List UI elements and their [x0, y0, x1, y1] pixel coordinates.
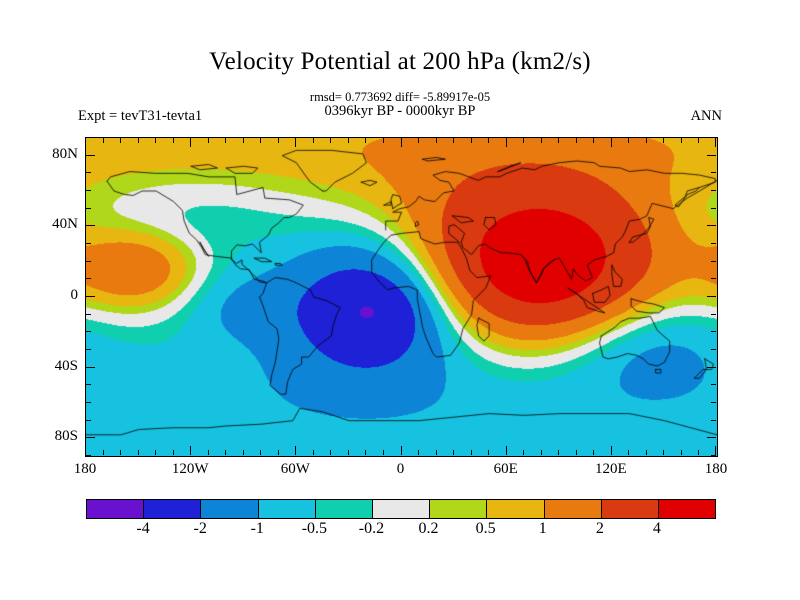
axis-tick — [611, 446, 612, 455]
colorbar-cell — [259, 500, 316, 518]
axis-tick — [225, 138, 226, 143]
axis-tick — [348, 450, 349, 455]
colorbar — [86, 499, 716, 519]
colorbar-tick-label: -1 — [227, 521, 287, 537]
axis-tick — [711, 172, 716, 173]
lon-tick-label: 60W — [255, 462, 335, 477]
colorbar-tick-label: 0.2 — [399, 521, 459, 537]
axis-tick — [260, 138, 261, 143]
axis-tick — [628, 450, 629, 455]
axis-tick — [711, 208, 716, 209]
axis-tick — [663, 138, 664, 143]
page-title: Velocity Potential at 200 hPa (km2/s) — [0, 48, 800, 76]
axis-tick — [698, 450, 699, 455]
lat-tick-label: 40S — [0, 359, 78, 374]
lon-tick-label: 120W — [150, 462, 230, 477]
axis-tick — [225, 450, 226, 455]
axis-tick — [365, 450, 366, 455]
axis-tick — [278, 450, 279, 455]
axis-tick — [711, 314, 716, 315]
colorbar-tick-label: -0.5 — [284, 521, 344, 537]
axis-tick — [436, 138, 437, 143]
axis-tick — [86, 296, 95, 297]
axis-tick — [138, 138, 139, 143]
axis-tick — [707, 225, 716, 226]
axis-tick — [138, 450, 139, 455]
axis-tick — [707, 155, 716, 156]
axis-tick — [190, 138, 191, 147]
axis-tick — [278, 138, 279, 143]
map-plot-area — [85, 137, 718, 457]
colorbar-cell — [545, 500, 602, 518]
axis-tick — [120, 450, 121, 455]
axis-tick — [711, 349, 716, 350]
axis-tick — [120, 138, 121, 143]
axis-tick — [711, 455, 716, 456]
axis-tick — [243, 138, 244, 143]
axis-tick — [155, 138, 156, 143]
axis-tick — [663, 450, 664, 455]
axis-tick — [86, 455, 91, 456]
axis-tick — [453, 138, 454, 143]
axis-tick — [86, 190, 91, 191]
axis-tick — [330, 138, 331, 143]
lon-tick-label: 120E — [571, 462, 651, 477]
axis-tick — [295, 446, 296, 455]
axis-tick — [698, 138, 699, 143]
axis-tick — [707, 437, 716, 438]
axis-tick — [401, 446, 402, 455]
axis-tick — [86, 172, 91, 173]
axis-tick — [523, 138, 524, 143]
axis-tick — [313, 450, 314, 455]
colorbar-tick-label: 1 — [513, 521, 573, 537]
axis-tick — [715, 138, 716, 147]
axis-tick — [86, 349, 91, 350]
lon-tick-label: 0 — [361, 462, 441, 477]
axis-tick — [576, 138, 577, 143]
season-label: ANN — [691, 108, 722, 125]
axis-tick — [348, 138, 349, 143]
axis-tick — [86, 225, 95, 226]
colorbar-tick-label: 0.5 — [456, 521, 516, 537]
axis-tick — [506, 446, 507, 455]
axis-tick — [471, 450, 472, 455]
axis-tick — [86, 402, 91, 403]
axis-tick — [313, 138, 314, 143]
axis-tick — [628, 138, 629, 143]
axis-tick — [453, 450, 454, 455]
axis-tick — [208, 450, 209, 455]
colorbar-cell — [201, 500, 258, 518]
axis-tick — [260, 450, 261, 455]
axis-tick — [711, 402, 716, 403]
axis-tick — [541, 138, 542, 143]
lat-tick-label: 0 — [0, 288, 78, 303]
axis-tick — [711, 243, 716, 244]
axis-tick — [523, 450, 524, 455]
axis-tick — [86, 137, 91, 138]
axis-tick — [365, 138, 366, 143]
axis-tick — [208, 138, 209, 143]
colorbar-tick-label: -4 — [113, 521, 173, 537]
axis-tick — [173, 450, 174, 455]
axis-tick — [86, 331, 91, 332]
velocity-potential-map — [86, 138, 717, 456]
axis-tick — [103, 450, 104, 455]
axis-tick — [155, 450, 156, 455]
colorbar-cell — [602, 500, 659, 518]
axis-tick — [715, 446, 716, 455]
axis-tick — [383, 138, 384, 143]
axis-tick — [86, 420, 91, 421]
lon-tick-label: 180 — [676, 462, 756, 477]
axis-tick — [646, 450, 647, 455]
axis-tick — [86, 261, 91, 262]
axis-tick — [418, 138, 419, 143]
axis-tick — [86, 367, 95, 368]
axis-tick — [173, 138, 174, 143]
axis-tick — [593, 450, 594, 455]
axis-tick — [103, 138, 104, 143]
colorbar-cell — [373, 500, 430, 518]
axis-tick — [711, 420, 716, 421]
axis-tick — [86, 243, 91, 244]
colorbar-tick-label: 2 — [570, 521, 630, 537]
axis-tick — [576, 450, 577, 455]
axis-tick — [488, 138, 489, 143]
axis-tick — [436, 450, 437, 455]
colorbar-cell — [87, 500, 144, 518]
colorbar-cell — [144, 500, 201, 518]
axis-tick — [711, 331, 716, 332]
axis-tick — [418, 450, 419, 455]
lat-tick-label: 80N — [0, 147, 78, 162]
lon-tick-label: 60E — [466, 462, 546, 477]
axis-tick — [330, 450, 331, 455]
colorbar-cell — [316, 500, 373, 518]
axis-tick — [471, 138, 472, 143]
axis-tick — [541, 450, 542, 455]
axis-tick — [711, 384, 716, 385]
axis-tick — [86, 314, 91, 315]
axis-tick — [85, 138, 86, 147]
axis-tick — [681, 450, 682, 455]
axis-tick — [707, 296, 716, 297]
experiment-label: Expt = tevT31-tevta1 — [78, 108, 202, 125]
axis-tick — [86, 437, 95, 438]
colorbar-cell — [487, 500, 544, 518]
axis-tick — [681, 138, 682, 143]
colorbar-tick-label: -0.2 — [341, 521, 401, 537]
axis-tick — [401, 138, 402, 147]
axis-tick — [86, 384, 91, 385]
axis-tick — [611, 138, 612, 147]
axis-tick — [707, 367, 716, 368]
colorbar-tick-label: 4 — [627, 521, 687, 537]
figure-root: Velocity Potential at 200 hPa (km2/s) rm… — [0, 0, 800, 600]
colorbar-cell — [659, 500, 715, 518]
colorbar-tick-label: -2 — [170, 521, 230, 537]
axis-tick — [488, 450, 489, 455]
axis-tick — [86, 278, 91, 279]
axis-tick — [86, 208, 91, 209]
axis-tick — [558, 138, 559, 143]
axis-tick — [190, 446, 191, 455]
axis-tick — [711, 278, 716, 279]
colorbar-cell — [430, 500, 487, 518]
axis-tick — [506, 138, 507, 147]
axis-tick — [711, 190, 716, 191]
axis-tick — [593, 138, 594, 143]
axis-tick — [86, 155, 95, 156]
axis-tick — [243, 450, 244, 455]
axis-tick — [383, 450, 384, 455]
axis-tick — [558, 450, 559, 455]
axis-tick — [646, 138, 647, 143]
lat-tick-label: 40N — [0, 217, 78, 232]
lat-tick-label: 80S — [0, 429, 78, 444]
axis-tick — [711, 261, 716, 262]
lon-tick-label: 180 — [45, 462, 125, 477]
axis-tick — [295, 138, 296, 147]
axis-tick — [85, 446, 86, 455]
